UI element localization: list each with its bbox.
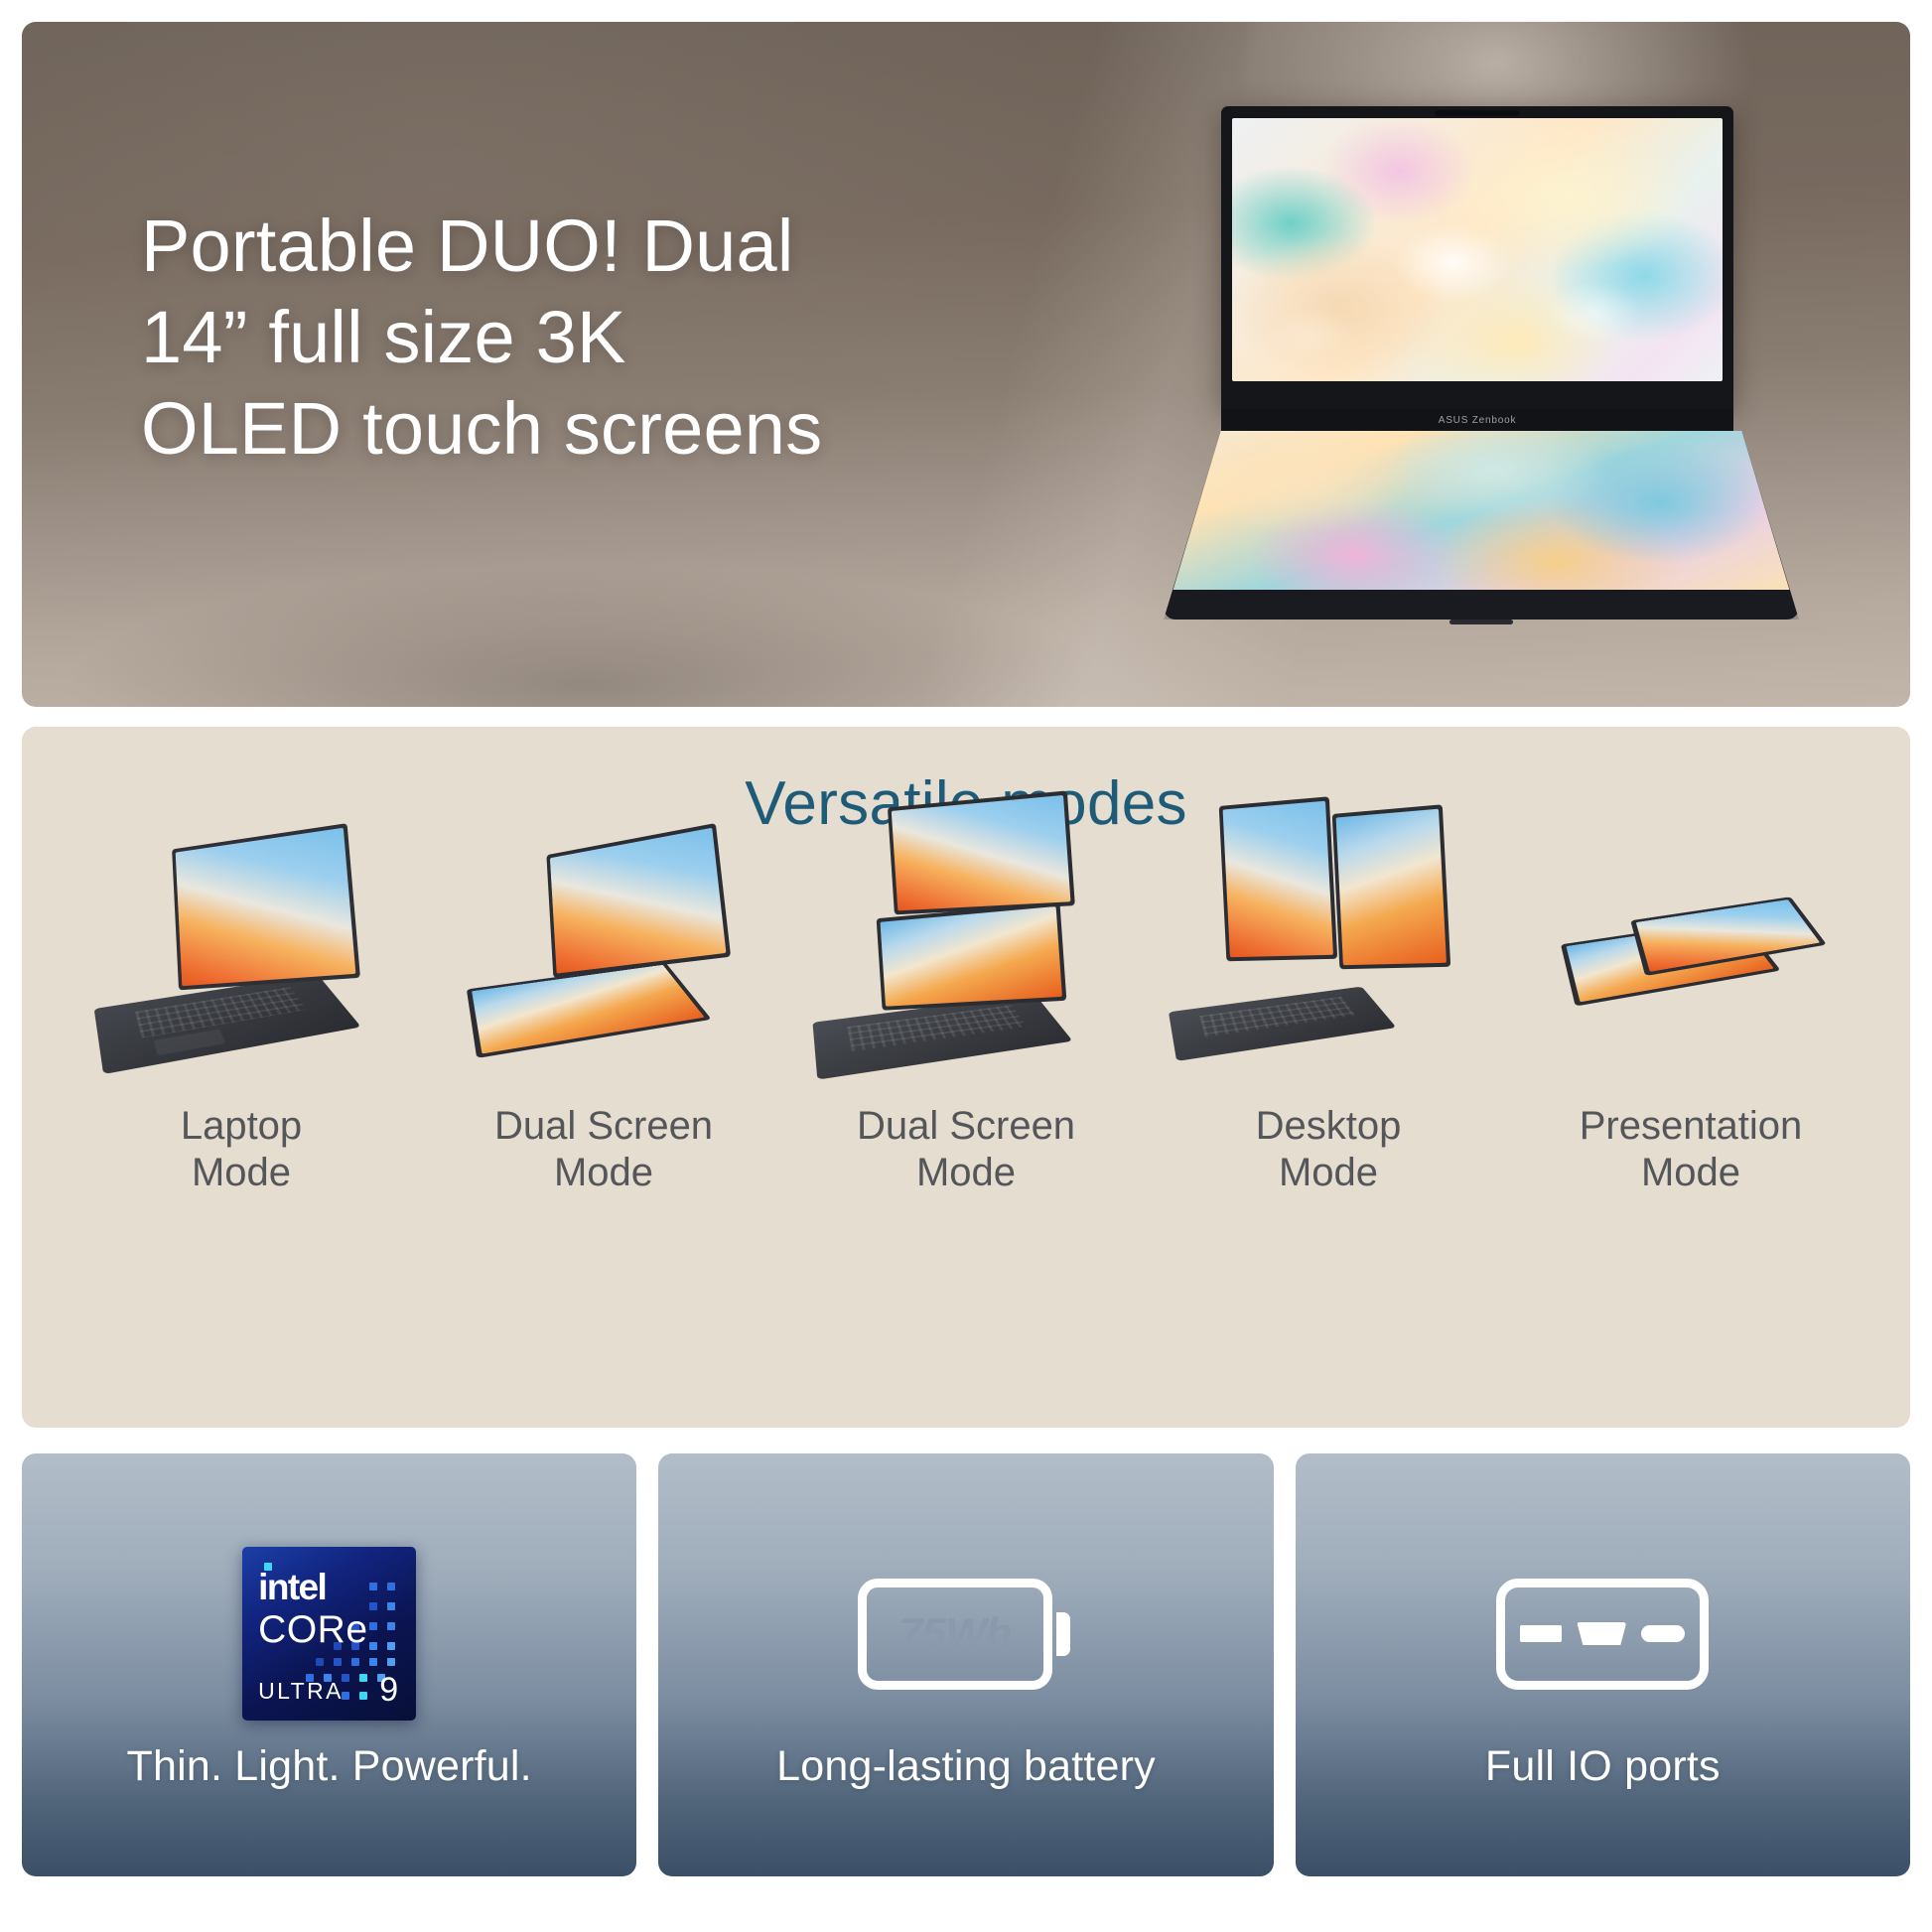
battery-terminal — [1056, 1612, 1070, 1656]
desktop-mode-illustration — [1155, 779, 1502, 1077]
hdmi-port-icon — [1577, 1622, 1626, 1645]
illustration-screen — [176, 827, 356, 986]
hero-headline-line-2: 14” full size 3K — [141, 292, 822, 383]
battery-capacity-label: 75Wh — [898, 1609, 1011, 1659]
laptop-lid — [1221, 106, 1733, 409]
intel-core-ultra-9-badge: intel CORe ULTRA 9 — [242, 1540, 416, 1728]
mode-label-desktop: Desktop Mode — [1256, 1103, 1402, 1196]
mode-label-line-2: Mode — [181, 1150, 302, 1196]
mode-label-line-2: Mode — [857, 1150, 1075, 1196]
mode-label-line-2: Mode — [1256, 1150, 1402, 1196]
webcam-icon — [1435, 110, 1520, 116]
mode-label-line-1: Desktop — [1256, 1103, 1402, 1150]
illustration-right-screen — [1332, 804, 1450, 969]
illustration-screen — [892, 795, 1071, 910]
usb-a-port-icon — [1520, 1625, 1562, 1642]
mode-label-dual-screen-stacked: Dual Screen Mode — [857, 1103, 1075, 1196]
illustration-upper-screen — [546, 823, 731, 978]
mode-label-line-2: Mode — [494, 1150, 713, 1196]
mode-item-dual-screen-stacked[interactable]: Dual Screen Mode — [792, 779, 1140, 1196]
illustration-touchpad — [153, 1029, 225, 1055]
hero-headline: Portable DUO! Dual 14” full size 3K OLED… — [141, 201, 822, 474]
hero-headline-line-1: Portable DUO! Dual — [141, 201, 822, 292]
presentation-mode-illustration — [1517, 779, 1864, 1077]
battery-icon: 75Wh — [858, 1540, 1074, 1728]
illustration-lower-screen — [467, 962, 712, 1058]
battery-body: 75Wh — [858, 1579, 1052, 1690]
usb-c-port-icon — [1641, 1625, 1685, 1642]
mode-label-line-2: Mode — [1580, 1150, 1803, 1196]
touchpad-strip-icon — [1449, 620, 1513, 624]
hero-headline-line-3: OLED touch screens — [141, 383, 822, 475]
feature-label-battery: Long-lasting battery — [776, 1742, 1156, 1791]
intel-family-label: CORe — [258, 1608, 367, 1652]
illustration-screen — [550, 827, 727, 973]
intel-brand-label: intel — [258, 1567, 326, 1608]
intel-level-label: 9 — [379, 1671, 398, 1710]
mode-item-desktop[interactable]: Desktop Mode — [1155, 779, 1502, 1196]
illustration-lower-screen — [877, 901, 1067, 1010]
intel-tier-label: ULTRA — [258, 1678, 344, 1705]
mode-label-laptop: Laptop Mode — [181, 1103, 302, 1196]
versatile-modes-section: Versatile modes Laptop Mode — [22, 727, 1910, 1428]
hero-banner: Portable DUO! Dual 14” full size 3K OLED… — [22, 22, 1910, 707]
laptop-upper-screen — [1232, 118, 1723, 381]
illustration-keyboard — [94, 974, 361, 1074]
feature-label-ports: Full IO ports — [1485, 1742, 1721, 1791]
intel-badge-text: intel CORe ULTRA 9 — [242, 1547, 416, 1721]
feature-card-processor[interactable]: intel CORe ULTRA 9 Thin. Light. Powerful… — [22, 1453, 636, 1876]
mode-label-line-1: Laptop — [181, 1103, 302, 1150]
mode-item-dual-screen-book[interactable]: Dual Screen Mode — [430, 779, 777, 1196]
illustration-upper-screen — [888, 790, 1075, 914]
illustration-screen — [1636, 899, 1820, 972]
laptop-lower-screen — [1164, 431, 1799, 590]
mode-item-laptop[interactable]: Laptop Mode — [68, 779, 415, 1196]
intel-badge: intel CORe ULTRA 9 — [242, 1547, 416, 1721]
illustration-screen — [472, 964, 704, 1053]
modes-row: Laptop Mode Dual Screen Mode — [22, 839, 1910, 1196]
illustration-lid — [172, 823, 360, 990]
io-ports-shape — [1496, 1579, 1709, 1690]
illustration-screen — [880, 906, 1061, 1007]
mode-label-line-1: Presentation — [1580, 1103, 1803, 1150]
laptop-hinge-bar: ASUS Zenbook — [1221, 409, 1733, 431]
mode-label-line-1: Dual Screen — [857, 1103, 1075, 1150]
mode-label-presentation: Presentation Mode — [1580, 1103, 1803, 1196]
feature-cards-row: intel CORe ULTRA 9 Thin. Light. Powerful… — [22, 1453, 1910, 1876]
illustration-keyboard — [1169, 986, 1397, 1060]
laptop-mode-illustration — [68, 779, 415, 1077]
product-marketing-page: Portable DUO! Dual 14” full size 3K OLED… — [0, 0, 1932, 1932]
io-ports-icon — [1496, 1540, 1709, 1728]
illustration-screen — [1223, 800, 1333, 957]
illustration-left-screen — [1219, 796, 1337, 961]
dual-screen-book-illustration — [430, 779, 777, 1077]
feature-card-battery[interactable]: 75Wh Long-lasting battery — [658, 1453, 1273, 1876]
device-brand-label: ASUS Zenbook — [1439, 415, 1517, 426]
mode-label-line-1: Dual Screen — [494, 1103, 713, 1150]
mode-item-presentation[interactable]: Presentation Mode — [1517, 779, 1864, 1196]
feature-card-ports[interactable]: Full IO ports — [1296, 1453, 1910, 1876]
illustration-screen — [1336, 808, 1447, 965]
mode-label-dual-screen-book: Dual Screen Mode — [494, 1103, 713, 1196]
feature-label-processor: Thin. Light. Powerful. — [127, 1742, 532, 1791]
dual-screen-stacked-illustration — [792, 779, 1140, 1077]
hero-dual-screen-laptop-image: ASUS Zenbook — [1164, 106, 1799, 632]
battery-shape: 75Wh — [858, 1579, 1074, 1690]
